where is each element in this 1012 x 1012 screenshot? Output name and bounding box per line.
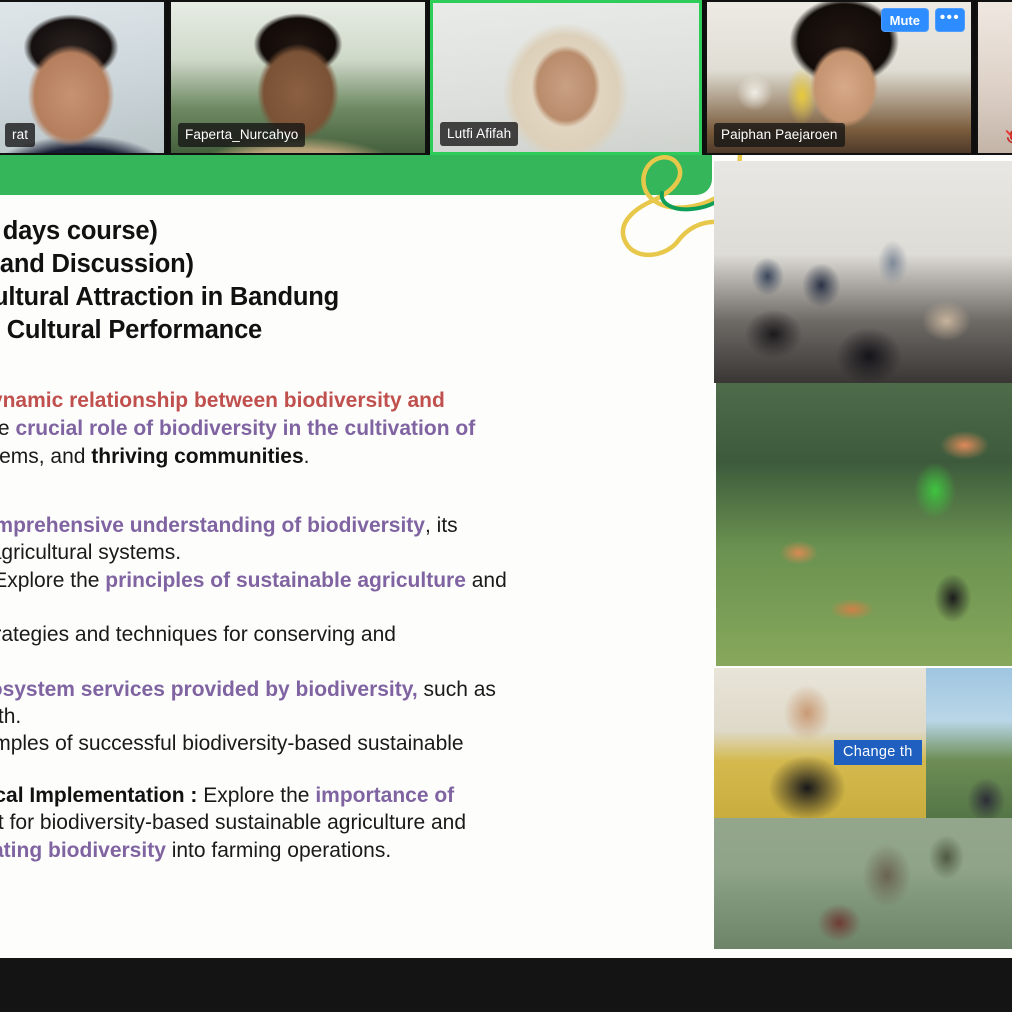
closing-line: t and support for biodiversity-based sus… xyxy=(0,809,710,836)
participant-name: Faperta_Nurcahyo xyxy=(178,123,305,148)
list-highlight: principles of sustainable agriculture xyxy=(105,569,466,592)
microphone-muted-icon xyxy=(1004,127,1012,149)
mute-button[interactable]: Mute xyxy=(881,8,929,32)
list-item: mine the ecosystem services provided by … xyxy=(0,676,710,703)
list-text: and soil health. xyxy=(0,705,21,728)
slide-heading-line: (Lectures and Discussion) xyxy=(0,248,720,281)
photo-vegetable-harvest-workers xyxy=(714,818,1012,949)
closing-text: and support for biodiversity-based susta… xyxy=(0,811,466,834)
participant-tile[interactable]: rat xyxy=(0,0,166,155)
photo-hillside-field-workers xyxy=(926,668,1012,833)
list-item: biodiversity. xyxy=(0,594,710,621)
list-text: Explore the xyxy=(0,569,105,592)
list-text: al-world examples of successful biodiver… xyxy=(0,732,464,755)
participant-tile[interactable]: Mute ••• Paiphan Paejaroen xyxy=(705,0,973,155)
list-item: al-world examples of successful biodiver… xyxy=(0,730,710,757)
closing-highlight: or incorporating biodiversity xyxy=(0,839,166,862)
list-item: on: Learn strategies and techniques for … xyxy=(0,621,710,648)
intro-text: ighlighting the xyxy=(0,417,15,440)
intro-highlight-red: dynamic relationship between biodiversit… xyxy=(0,389,445,412)
list-text: Learn strategies and techniques for cons… xyxy=(0,623,396,646)
list-text: such as xyxy=(418,678,496,701)
closing-highlight: importance of xyxy=(315,784,454,807)
intro-text: . xyxy=(304,445,310,468)
slide-closing-block: t and Practical Implementation : Explore… xyxy=(0,782,710,864)
list-item: portance in agricultural systems. xyxy=(0,539,710,566)
list-text: portance in agricultural systems. xyxy=(0,541,181,564)
list-text: , its xyxy=(425,514,458,537)
slide-intro-paragraph: xplore the dynamic relationship between … xyxy=(0,387,710,471)
closing-line: t and Practical Implementation : Explore… xyxy=(0,782,710,809)
slide-heading-line: tation and Cultural Performance xyxy=(0,314,720,347)
list-item: on farms. xyxy=(0,648,710,675)
participant-name: rat xyxy=(5,123,35,148)
closing-text: Explore the xyxy=(197,784,315,807)
intro-highlight-purple: crucial role of biodiversity in the cult… xyxy=(15,417,475,440)
closing-line: or incorporating biodiversity into farmi… xyxy=(0,837,710,864)
list-text: and xyxy=(466,569,507,592)
participant-tile[interactable] xyxy=(976,0,1012,155)
list-item: y: Gain a comprehensive understanding of… xyxy=(0,512,710,539)
photo-classroom-presentation xyxy=(714,161,1012,383)
intro-line: ighlighting the crucial role of biodiver… xyxy=(0,415,710,443)
list-highlight: comprehensive understanding of biodivers… xyxy=(0,514,425,537)
intro-text: ent food systems, and xyxy=(0,445,91,468)
participant-tile-active-speaker[interactable]: Lutfi Afifah xyxy=(430,0,702,155)
participant-tile[interactable]: Faperta_Nurcahyo xyxy=(169,0,427,155)
more-options-button[interactable]: ••• xyxy=(935,8,965,32)
bottom-toolbar-area xyxy=(0,958,1012,1012)
photo-caption-badge: Change th xyxy=(834,740,922,765)
list-item: Principles: Explore the principles of su… xyxy=(0,567,710,594)
slide-headings: Course (3 days course) (Lectures and Dis… xyxy=(0,215,720,348)
participant-name: Paiphan Paejaroen xyxy=(714,123,845,148)
intro-line: xplore the dynamic relationship between … xyxy=(0,387,710,415)
list-item: and soil health. xyxy=(0,703,710,730)
closing-text: into farming operations. xyxy=(166,839,391,862)
participant-name: Lutfi Afifah xyxy=(440,122,518,147)
list-highlight: ecosystem services provided by biodivers… xyxy=(0,678,418,701)
closing-lead: t and Practical Implementation : xyxy=(0,784,197,807)
slide-body-list: y: Gain a comprehensive understanding of… xyxy=(0,512,710,758)
participant-filmstrip: rat Faperta_Nurcahyo Lutfi Afifah Mute •… xyxy=(0,0,1012,155)
participant-controls: Mute ••• xyxy=(881,8,965,32)
zoom-meeting-window: rat Faperta_Nurcahyo Lutfi Afifah Mute •… xyxy=(0,0,1012,1012)
intro-bold: thriving communities xyxy=(91,445,303,468)
photo-cabbage-harvest-farmer xyxy=(716,383,1012,666)
slide-photo-column: Change th xyxy=(712,155,1012,958)
intro-line: ent food systems, and thriving communiti… xyxy=(0,443,710,471)
slide-heading-line: Course (3 days course) xyxy=(0,215,720,248)
shared-slide: Course (3 days course) (Lectures and Dis… xyxy=(0,155,1012,958)
photo-award-ceremony-man: Change th xyxy=(714,668,926,818)
slide-heading-line: eld and Cultural Attraction in Bandung xyxy=(0,281,720,314)
